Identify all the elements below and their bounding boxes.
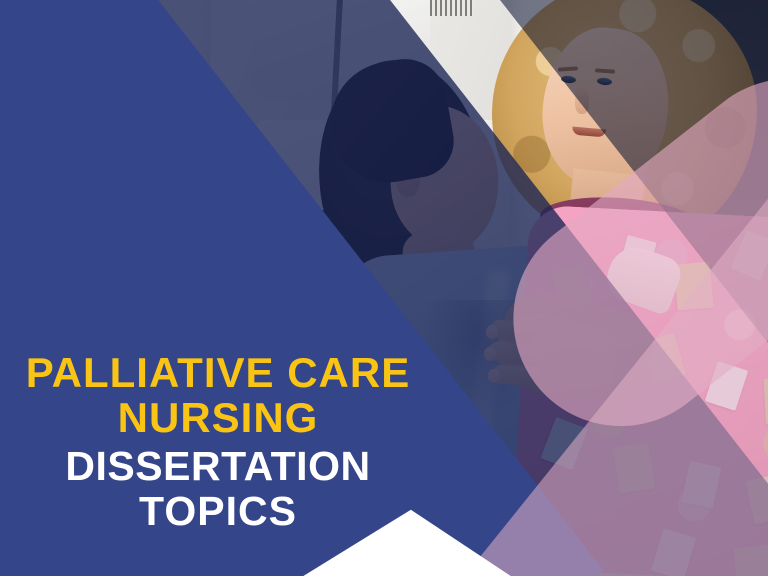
poster-canvas: PALLIATIVE CARE NURSING DISSERTATION TOP…: [0, 0, 768, 576]
headline-line-3: DISSERTATION: [0, 446, 436, 488]
headline-line-1: PALLIATIVE CARE: [0, 352, 436, 395]
headline-line-2: NURSING: [0, 397, 436, 440]
headline-line-4: TOPICS: [0, 491, 436, 533]
headline-block: PALLIATIVE CARE NURSING DISSERTATION TOP…: [0, 352, 436, 533]
